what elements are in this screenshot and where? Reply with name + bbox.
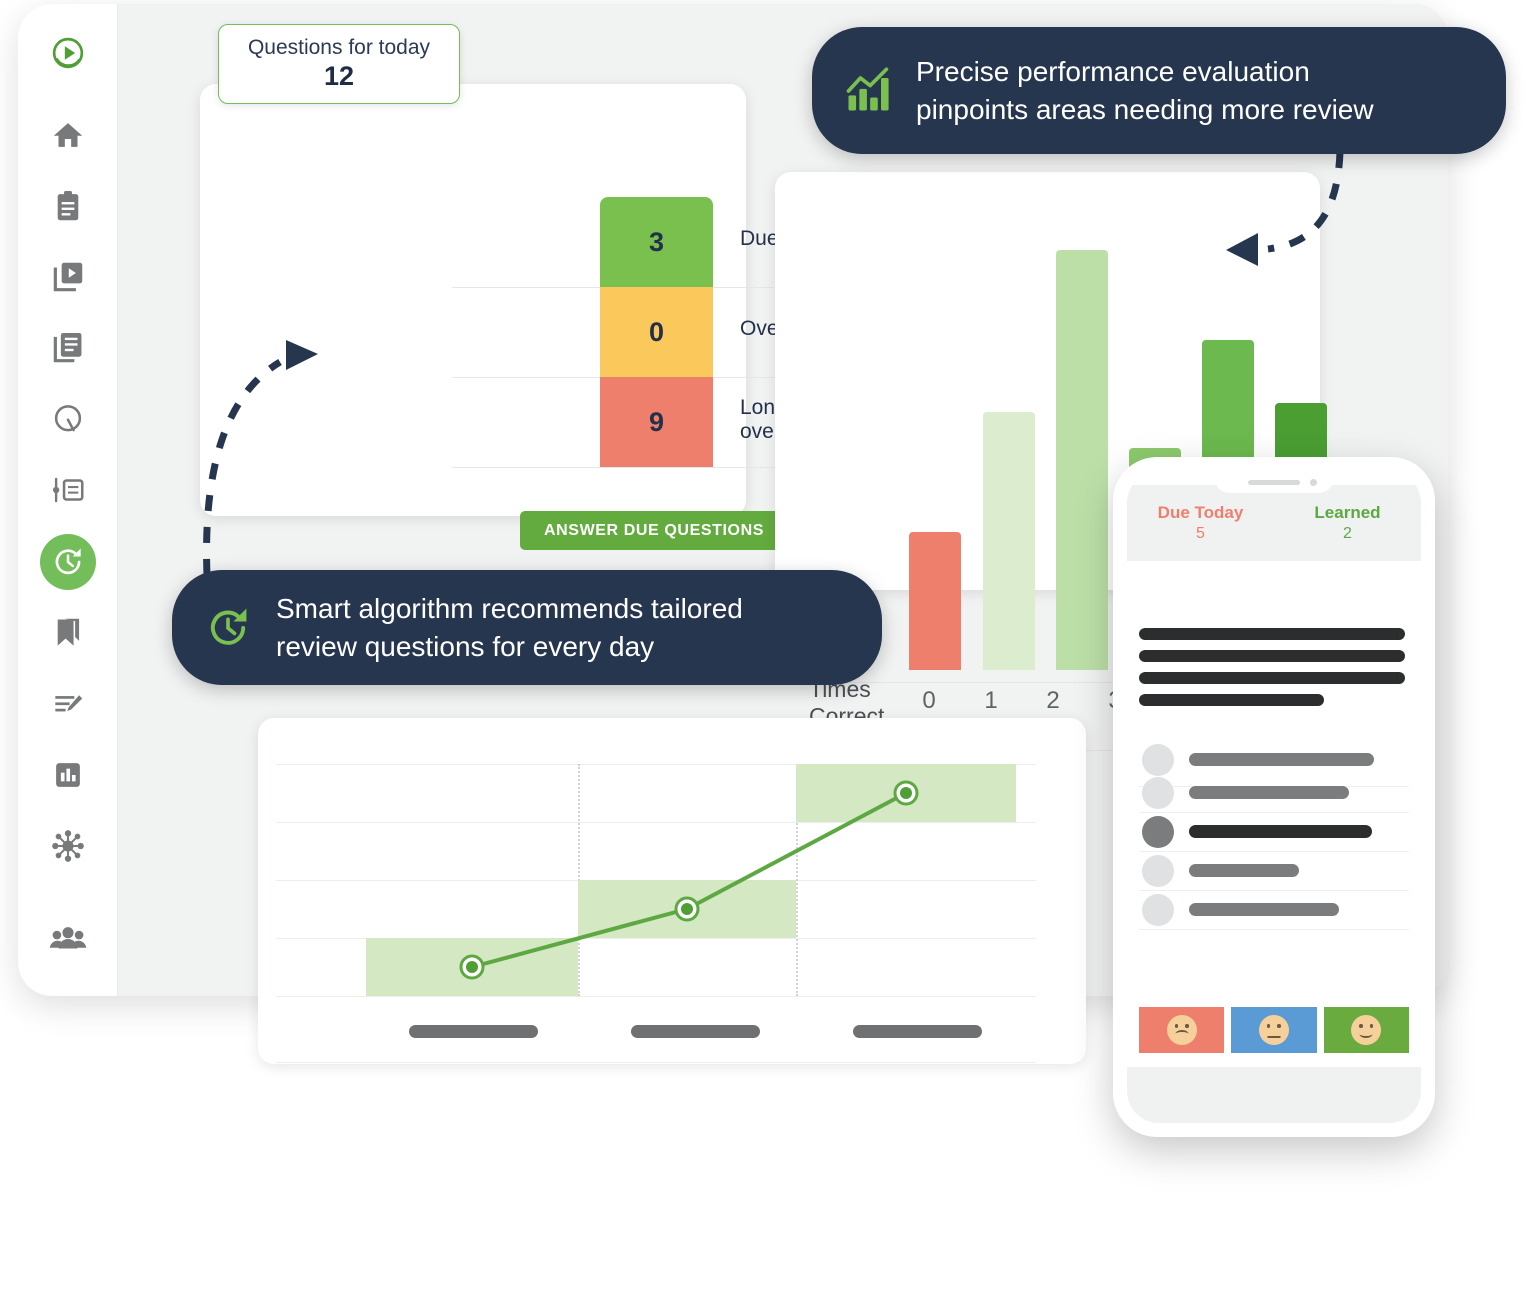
phone-camera: [1310, 479, 1317, 486]
question-line-1: [1139, 628, 1405, 640]
progress-line-chart-card: [258, 718, 1086, 1064]
xtick-placeholder-2: [631, 1025, 760, 1038]
answer-option-row[interactable]: [1139, 890, 1409, 930]
option-text-placeholder: [1189, 903, 1339, 916]
play-circle-logo: [49, 34, 87, 72]
sidebar-item-community[interactable]: [34, 910, 102, 968]
line-chart-plot: [276, 742, 1066, 992]
option-radio-selected-icon[interactable]: [1142, 816, 1174, 848]
question-line-3: [1139, 672, 1405, 684]
questions-stacked-bar: 3 0 9: [600, 197, 713, 467]
xtick-placeholder-3: [853, 1025, 982, 1038]
label-due: Due: [740, 227, 779, 251]
badge-title: Questions for today: [248, 36, 430, 59]
video-library-icon: [49, 258, 87, 296]
bar-xtick-2: 2: [1023, 687, 1083, 715]
composition-stage: 3 0 9 Due Overdue Long overdue ANSWER DU…: [0, 0, 1536, 1297]
phone-home-area: [1127, 1067, 1421, 1123]
sidebar-item-statistics[interactable]: [34, 746, 102, 804]
answer-option-row-selected[interactable]: [1139, 812, 1409, 852]
questions-for-today-badge: Questions for today 12: [218, 24, 460, 104]
line-series: [276, 742, 1066, 1002]
sidebar-item-network[interactable]: [34, 817, 102, 875]
phone-screen: Due Today 5 Learned 2: [1127, 471, 1421, 1123]
sidebar-item-questions[interactable]: [34, 390, 102, 448]
article-list-icon: [49, 471, 87, 509]
bar-chart-trend-icon: [842, 65, 894, 117]
bar-1[interactable]: [983, 412, 1035, 670]
bar-chart-icon: [49, 756, 87, 794]
option-radio-icon[interactable]: [1142, 744, 1174, 776]
sidebar-item-articles[interactable]: [34, 461, 102, 519]
segment-due[interactable]: 3: [600, 197, 713, 287]
documents-icon: [49, 329, 87, 367]
phone-stat-due-today: Due Today 5: [1127, 502, 1274, 545]
algorithm-callout: Smart algorithm recommends tailored revi…: [172, 570, 882, 685]
option-text-placeholder: [1189, 753, 1374, 766]
sidebar-logo[interactable]: [34, 24, 102, 82]
option-text-placeholder: [1189, 864, 1299, 877]
questions-card: 3 0 9 Due Overdue Long overdue ANSWER DU…: [200, 84, 746, 516]
due-today-label: Due Today: [1127, 502, 1274, 524]
phone-stats-bar: Due Today 5 Learned 2: [1127, 485, 1421, 561]
xtick-placeholder-1: [409, 1025, 538, 1038]
learned-label: Learned: [1274, 502, 1421, 524]
sad-face-icon: [1167, 1015, 1197, 1045]
bar-0[interactable]: [909, 532, 961, 670]
question-line-4: [1139, 694, 1324, 706]
sidebar-item-review[interactable]: [34, 533, 102, 591]
happy-face-icon: [1351, 1015, 1381, 1045]
due-today-value: 5: [1127, 524, 1274, 545]
performance-callout-text: Precise performance evaluation pinpoints…: [916, 53, 1374, 127]
answer-due-questions-button[interactable]: ANSWER DUE QUESTIONS: [520, 511, 788, 550]
review-clock-icon: [49, 543, 87, 581]
sidebar-item-notes[interactable]: [34, 675, 102, 733]
clipboard-icon: [49, 187, 87, 225]
phone-mockup: Due Today 5 Learned 2: [1113, 457, 1435, 1137]
answer-option-row[interactable]: [1139, 773, 1409, 813]
sidebar-item-videos[interactable]: [34, 248, 102, 306]
phone-speaker: [1248, 480, 1300, 485]
sidebar-item-bookmarks[interactable]: [34, 604, 102, 662]
option-radio-icon[interactable]: [1142, 855, 1174, 887]
option-radio-icon[interactable]: [1142, 777, 1174, 809]
network-icon: [49, 827, 87, 865]
bar-xtick-1: 1: [961, 687, 1021, 715]
answer-option-row[interactable]: [1139, 851, 1409, 891]
notes-edit-icon: [49, 685, 87, 723]
performance-callout: Precise performance evaluation pinpoints…: [812, 27, 1506, 154]
sidebar-item-documents[interactable]: [34, 319, 102, 377]
people-icon: [49, 920, 87, 958]
bar-xtick-0: 0: [899, 687, 959, 715]
rate-easy-button[interactable]: [1324, 1007, 1409, 1053]
question-line-2: [1139, 650, 1405, 662]
sidebar-item-assignments[interactable]: [34, 177, 102, 235]
option-radio-icon[interactable]: [1142, 894, 1174, 926]
review-clock-icon: [202, 602, 254, 654]
segment-long-overdue[interactable]: 9: [600, 377, 713, 467]
badge-value: 12: [324, 61, 354, 92]
option-text-placeholder: [1189, 786, 1349, 799]
rate-ok-button[interactable]: [1231, 1007, 1316, 1053]
algorithm-callout-text: Smart algorithm recommends tailored revi…: [276, 590, 743, 664]
learned-value: 2: [1274, 524, 1421, 545]
app-sidebar: [18, 4, 118, 996]
question-icon: [49, 400, 87, 438]
phone-stat-learned: Learned 2: [1274, 502, 1421, 545]
home-icon: [49, 116, 87, 154]
bookmarks-icon: [49, 614, 87, 652]
neutral-face-icon: [1259, 1015, 1289, 1045]
rating-buttons: [1139, 1007, 1409, 1053]
option-text-placeholder: [1189, 825, 1372, 838]
segment-overdue[interactable]: 0: [600, 287, 713, 377]
rate-hard-button[interactable]: [1139, 1007, 1224, 1053]
sidebar-item-home[interactable]: [34, 106, 102, 164]
bar-2[interactable]: [1056, 250, 1108, 670]
